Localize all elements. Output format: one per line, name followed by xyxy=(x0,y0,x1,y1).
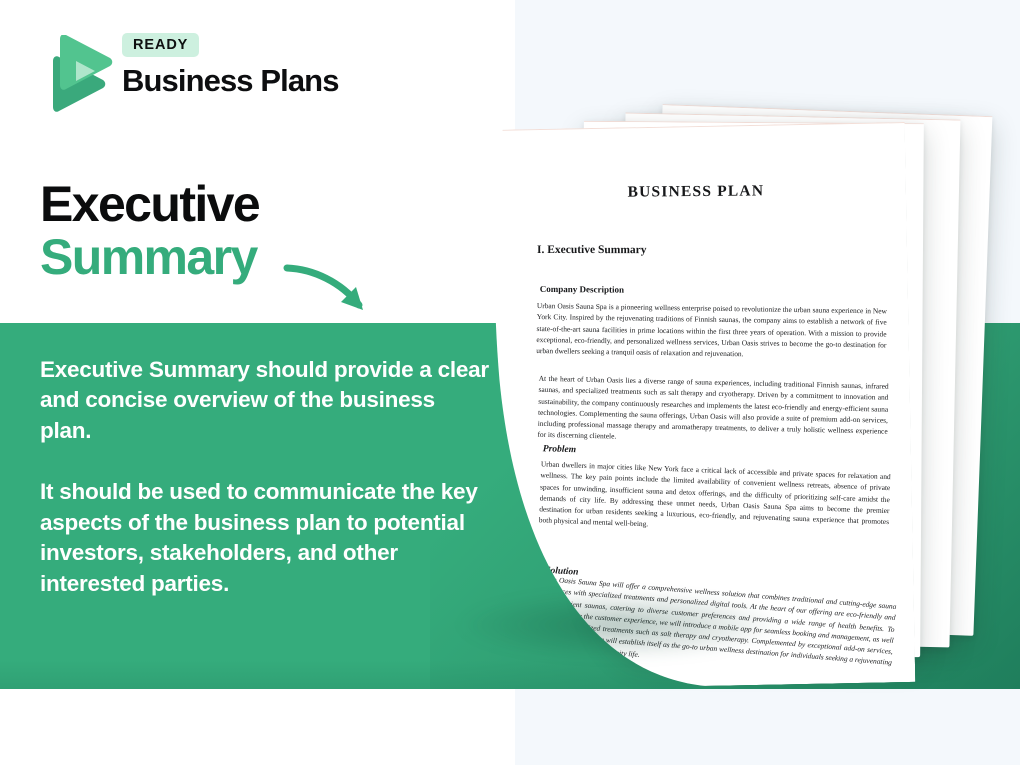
summary-description: Executive Summary should provide a clear… xyxy=(40,355,490,599)
subheading-problem: Problem xyxy=(543,444,577,455)
document-section-heading: I. Executive Summary xyxy=(537,244,647,256)
title-line-summary: Summary xyxy=(40,231,460,284)
brand-logo[interactable]: READY Business Plans xyxy=(40,33,330,115)
title-line-executive: Executive xyxy=(40,178,460,231)
business-plan-document[interactable]: BUSINESS PLAN I. Executive Summary Compa… xyxy=(485,122,916,690)
brand-lockup-text: READY Business Plans xyxy=(122,33,362,99)
document-stack: BUSINESS PLAN I. Executive Summary Compa… xyxy=(470,60,1020,680)
document-content: BUSINESS PLAN I. Executive Summary Compa… xyxy=(485,123,916,690)
document-title: BUSINESS PLAN xyxy=(486,181,906,203)
slide-canvas: READY Business Plans Executive Summary E… xyxy=(0,0,1020,765)
subheading-company-description: Company Description xyxy=(540,284,624,295)
summary-paragraph-2: It should be used to communicate the key… xyxy=(40,477,490,599)
play-triangle-logo-icon xyxy=(40,35,116,113)
paragraph-company-1: Urban Oasis Sauna Spa is a pioneering we… xyxy=(536,300,887,362)
paragraph-solution: Urban Oasis Sauna Spa will offer a compr… xyxy=(532,573,897,680)
ready-badge: READY xyxy=(122,33,199,57)
paragraph-problem: Urban dwellers in major cities like New … xyxy=(539,458,891,538)
paragraph-company-2: At the heart of Urban Oasis lies a diver… xyxy=(537,373,888,448)
brand-name: Business Plans xyxy=(122,63,362,99)
page-title: Executive Summary xyxy=(40,178,460,284)
summary-paragraph-1: Executive Summary should provide a clear… xyxy=(40,355,490,446)
curved-arrow-down-right-icon xyxy=(283,258,383,326)
